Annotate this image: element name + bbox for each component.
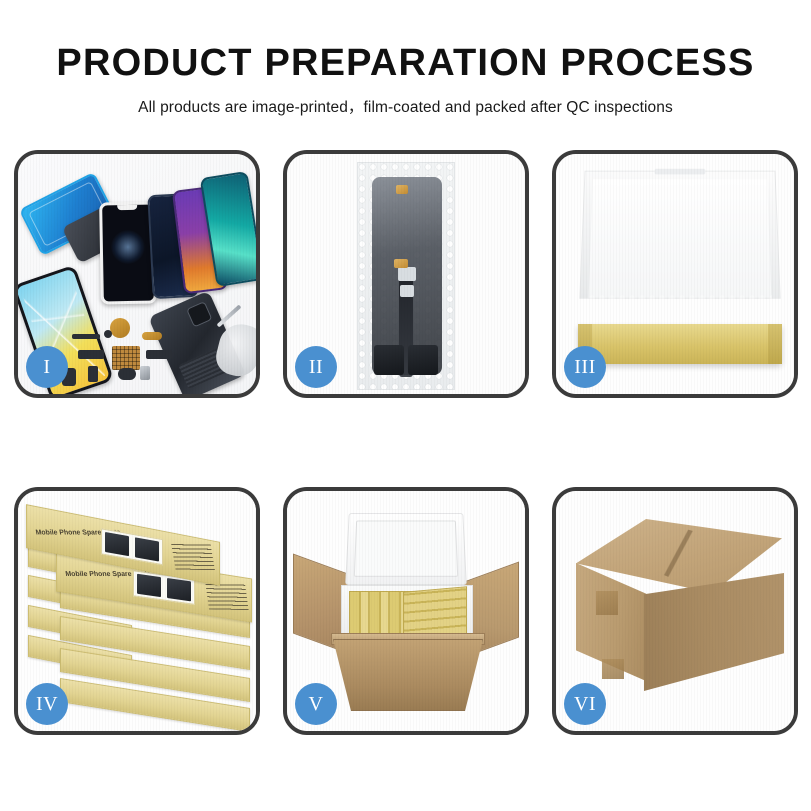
- part-vibrator: [118, 368, 136, 380]
- carton-tape-upper: [596, 591, 618, 615]
- part-gold-connector: [142, 332, 162, 340]
- part-flex-cable-b: [146, 350, 172, 359]
- window-screen-b: [167, 578, 191, 601]
- part-screw-dot: [104, 330, 112, 338]
- shipping-carton-body: [333, 639, 483, 711]
- process-step-grid: I II: [14, 150, 798, 735]
- part-metal-shield: [140, 366, 150, 380]
- connector-block-left: [374, 345, 404, 375]
- step-badge-2: II: [295, 346, 337, 388]
- step-badge-1: I: [26, 346, 68, 388]
- yellow-boxes-row-back: [403, 586, 467, 640]
- process-step-panel-4: Mobile Phone Spare Parts Mobile Phone Sp…: [14, 487, 260, 735]
- header: PRODUCT PREPARATION PROCESS All products…: [0, 42, 811, 117]
- process-step-panel-1: I: [14, 150, 260, 398]
- step-badge-4: IV: [26, 683, 68, 725]
- bubble-wrap-bag: [357, 162, 455, 390]
- flex-connector-pad-2: [400, 285, 414, 297]
- step-badge-3: III: [564, 346, 606, 388]
- part-chip-array: [112, 346, 140, 370]
- lid-tab: [655, 169, 706, 175]
- process-step-panel-6: VI: [552, 487, 798, 735]
- step-badge-5: V: [295, 683, 337, 725]
- window-screen-b: [135, 537, 159, 561]
- carton-tape-lower: [602, 659, 624, 679]
- white-box-lid: [579, 171, 780, 299]
- part-speaker-coil: [110, 318, 130, 338]
- product-preparation-infographic: PRODUCT PREPARATION PROCESS All products…: [0, 0, 811, 811]
- part-earpiece-mesh: [72, 334, 100, 339]
- window-screen-a: [137, 574, 161, 597]
- phone-notch: [117, 205, 137, 210]
- box-spec-lines: [171, 543, 215, 570]
- kraft-box-tray: [578, 324, 782, 364]
- box-spec-lines: [205, 583, 248, 610]
- flex-connector-pad: [398, 267, 416, 281]
- foam-lid: [345, 513, 467, 585]
- process-step-panel-3: III: [552, 150, 798, 398]
- process-step-panel-2: II: [283, 150, 529, 398]
- page-title: PRODUCT PREPARATION PROCESS: [0, 42, 811, 85]
- part-flex-cable-a: [78, 350, 104, 359]
- carton-right-face: [644, 573, 784, 691]
- connector-block-right: [408, 345, 438, 375]
- tape-strip-top: [396, 185, 408, 194]
- tape-strip-mid: [394, 259, 408, 268]
- box-window-image: [101, 528, 163, 565]
- window-screen-a: [105, 532, 129, 556]
- page-subtitle: All products are image-printed，film-coat…: [0, 95, 811, 117]
- process-step-panel-5: V: [283, 487, 529, 735]
- bubble-wrap-layer: [588, 294, 772, 328]
- step-badge-6: VI: [564, 683, 606, 725]
- part-button-bracket: [88, 366, 98, 382]
